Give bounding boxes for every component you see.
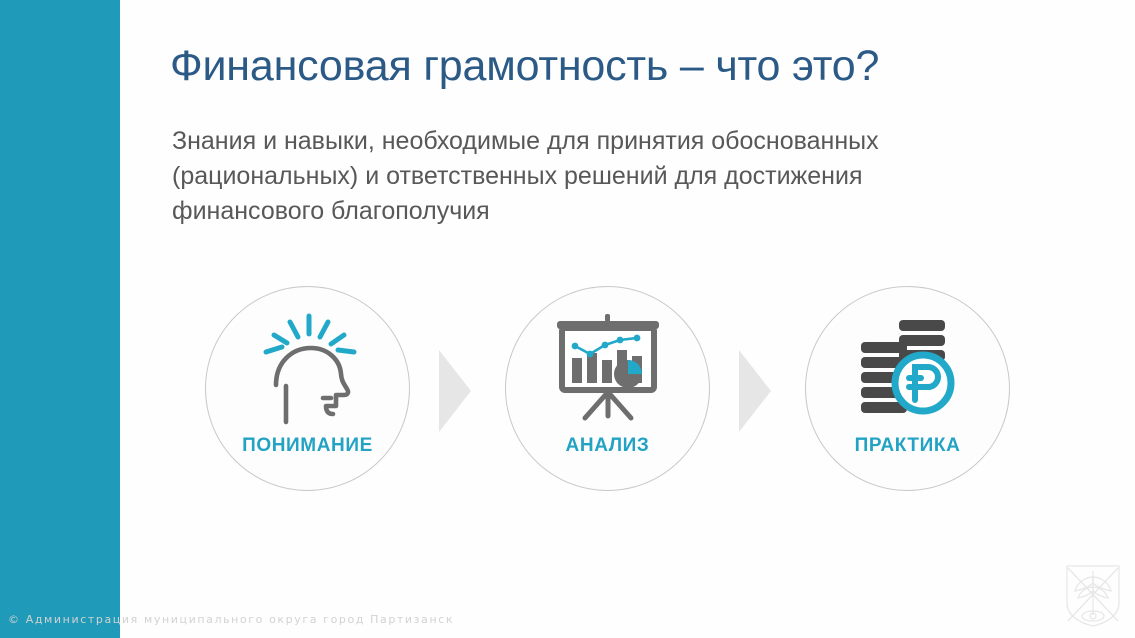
steps-row: ПОНИМАНИЕ xyxy=(120,286,1135,501)
arrow-right-icon-1 xyxy=(435,348,475,434)
step-label-praktika: ПРАКТИКА xyxy=(806,435,1009,457)
step-circle-ponimanie[interactable]: ПОНИМАНИЕ xyxy=(205,286,410,491)
body-paragraph: Знания и навыки, необходимые для приняти… xyxy=(172,124,1012,229)
page-title: Финансовая грамотность – что это? xyxy=(170,42,1070,91)
step-label-analiz: АНАЛИЗ xyxy=(506,435,709,457)
city-coat-of-arms-icon xyxy=(1063,563,1123,629)
footer-copyright: © Администрация муниципального округа го… xyxy=(8,613,454,626)
presentation-chart-icon xyxy=(506,309,709,427)
arrow-right-icon-2 xyxy=(735,348,775,434)
step-circle-praktika[interactable]: ПРАКТИКА xyxy=(805,286,1010,491)
coin-stack-ruble-icon xyxy=(806,309,1009,427)
head-with-rays-icon xyxy=(206,309,409,427)
step-circle-analiz[interactable]: АНАЛИЗ xyxy=(505,286,710,491)
step-label-ponimanie: ПОНИМАНИЕ xyxy=(206,435,409,457)
slide-canvas: Финансовая грамотность – что это? Знания… xyxy=(0,0,1135,638)
left-accent-band xyxy=(0,0,120,638)
